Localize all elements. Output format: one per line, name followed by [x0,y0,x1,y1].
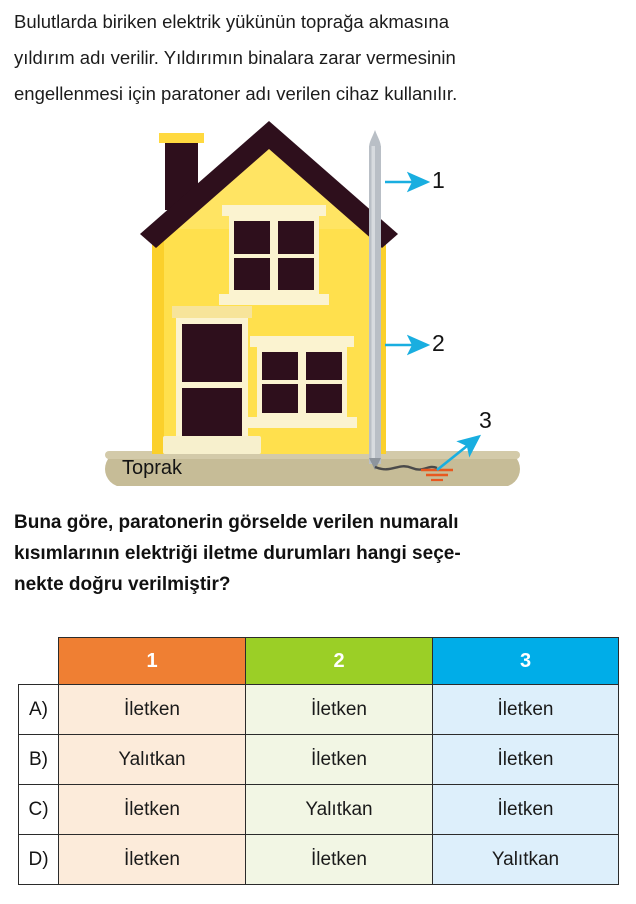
option-b-value-2: İletken [246,735,433,785]
option-a-value-3: İletken [433,685,619,735]
option-a-value-1: İletken [59,685,246,735]
callout-number-2: 2 [432,330,445,357]
door-step [163,436,261,454]
ground-label: Toprak [122,457,182,480]
callout-arrows [385,182,477,470]
table-header-row: 1 2 3 [19,638,619,685]
option-d-value-3: Yalıtkan [433,835,619,885]
question-line-1: Buna göre, paratonerin görselde verilen … [14,507,624,538]
intro-line-2-text: yıldırım adı verilir. Yıldırımın binalar… [14,47,456,68]
house-wall-left-trim [152,228,164,454]
option-label-b[interactable]: B) [19,735,59,785]
upper-window-sill [219,294,329,305]
lower-window-pane-1 [262,352,298,380]
intro-line-2: yıldırım adı verilir. Yıldırımın binalar… [14,40,626,76]
intro-line-1: Bulutlarda biriken elektrik yükünün topr… [14,4,626,40]
table-row[interactable]: D) İletken İletken Yalıtkan [19,835,619,885]
answer-options-table: 1 2 3 A) İletken İletken İletken B) Yalı… [18,637,618,885]
question-line-3: nekte doğru verilmiştir? [14,569,624,600]
question-line-1-text: Buna göre, paratonerin görselde verilen … [14,512,459,533]
upper-window-pane-3 [234,258,270,290]
illustration-svg [0,118,636,486]
option-c-value-2: Yalıtkan [246,785,433,835]
options-table: 1 2 3 A) İletken İletken İletken B) Yalı… [18,637,619,885]
intro-line-1-text: Bulutlarda biriken elektrik yükünün topr… [14,4,449,40]
option-label-d[interactable]: D) [19,835,59,885]
lower-window-pane-2 [306,352,342,380]
intro-line-3: engellenmesi için paratoner adı verilen … [14,76,626,112]
column-header-3: 3 [433,638,619,685]
upper-window-pane-4 [278,258,314,290]
upper-window-lintel [222,205,326,216]
option-label-a[interactable]: A) [19,685,59,735]
lightning-rod-illustration: 1 2 3 Toprak [0,118,636,486]
house-group [140,121,398,454]
option-a-value-2: İletken [246,685,433,735]
question-line-2: kısımlarının elektriği iletme durumları … [14,538,624,569]
front-door [163,306,261,454]
table-row[interactable]: C) İletken Yalıtkan İletken [19,785,619,835]
lower-window-sill [247,417,357,428]
lower-window-pane-3 [262,384,298,413]
lightning-rod-highlight [372,146,376,464]
table-row[interactable]: A) İletken İletken İletken [19,685,619,735]
upper-window-pane-1 [234,221,270,254]
option-d-value-1: İletken [59,835,246,885]
lower-window [247,336,357,428]
table-row[interactable]: B) Yalıtkan İletken İletken [19,735,619,785]
upper-window [219,205,329,305]
column-header-1: 1 [59,638,246,685]
question-line-2-text: kısımlarının elektriği iletme durumları … [14,543,461,564]
lower-window-lintel [250,336,354,347]
question-line-3-text: nekte doğru verilmiştir? [14,574,230,595]
column-header-2: 2 [246,638,433,685]
option-c-value-1: İletken [59,785,246,835]
intro-line-3-text: engellenmesi için paratoner adı verilen … [14,83,457,104]
door-panel-upper [182,324,242,382]
header-corner-blank [19,638,59,685]
intro-paragraph: Bulutlarda biriken elektrik yükünün topr… [14,4,626,112]
lightning-rod-group [369,130,381,470]
option-b-value-3: İletken [433,735,619,785]
callout-number-1: 1 [432,167,445,194]
lower-window-pane-4 [306,384,342,413]
option-d-value-2: İletken [246,835,433,885]
upper-window-pane-2 [278,221,314,254]
lightning-rod-tip [369,130,381,148]
question-text: Buna göre, paratonerin görselde verilen … [14,507,624,600]
option-b-value-1: Yalıtkan [59,735,246,785]
callout-number-3: 3 [479,407,492,434]
chimney-cap [159,133,204,143]
option-c-value-3: İletken [433,785,619,835]
door-lintel [172,306,252,318]
option-label-c[interactable]: C) [19,785,59,835]
